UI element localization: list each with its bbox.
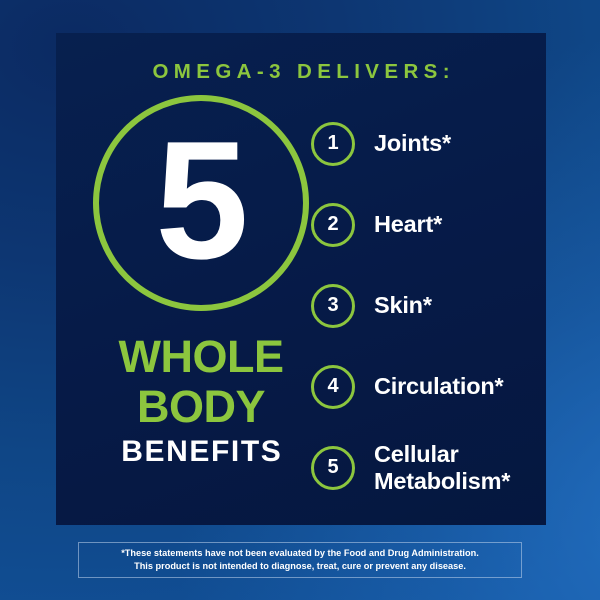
number-circle-icon: 4 [311, 365, 355, 409]
list-item-number: 3 [327, 294, 338, 317]
number-circle-icon: 3 [311, 284, 355, 328]
inner-panel: OMEGA-3 DELIVERS: 5 WHOLE BODY BENEFITS … [56, 33, 546, 525]
list-item-number: 4 [327, 375, 338, 398]
list-item-label: Joints* [374, 130, 451, 157]
list-item-label: Skin* [374, 292, 432, 319]
number-circle-icon: 2 [311, 203, 355, 247]
disclaimer-line-1: *These statements have not been evaluate… [121, 547, 479, 560]
list-item: 5 Cellular Metabolism* [311, 427, 543, 508]
badge-line-benefits: BENEFITS [76, 437, 326, 467]
benefits-list: 1 Joints* 2 Heart* 3 Skin* 4 Circulation… [311, 103, 543, 508]
page-title: OMEGA-3 DELIVERS: [56, 60, 546, 84]
badge-number: 5 [93, 125, 309, 275]
list-item-label: Cellular Metabolism* [374, 441, 510, 495]
list-item: 4 Circulation* [311, 346, 543, 427]
list-item: 3 Skin* [311, 265, 543, 346]
list-item: 1 Joints* [311, 103, 543, 184]
disclaimer-box: *These statements have not been evaluate… [78, 542, 522, 578]
list-item-number: 2 [327, 213, 338, 236]
badge-line-whole: WHOLE [76, 335, 326, 379]
number-circle-icon: 5 [311, 446, 355, 490]
poster-canvas: OMEGA-3 DELIVERS: 5 WHOLE BODY BENEFITS … [0, 0, 600, 600]
list-item-number: 5 [327, 456, 338, 479]
list-item-label: Circulation* [374, 373, 503, 400]
badge-group: 5 WHOLE BODY BENEFITS [76, 95, 326, 467]
number-circle-icon: 1 [311, 122, 355, 166]
list-item: 2 Heart* [311, 184, 543, 265]
badge-line-body: BODY [76, 385, 326, 429]
list-item-label: Heart* [374, 211, 442, 238]
disclaimer-line-2: This product is not intended to diagnose… [134, 560, 466, 573]
big-number-badge: 5 [93, 95, 309, 311]
list-item-number: 1 [327, 132, 338, 155]
